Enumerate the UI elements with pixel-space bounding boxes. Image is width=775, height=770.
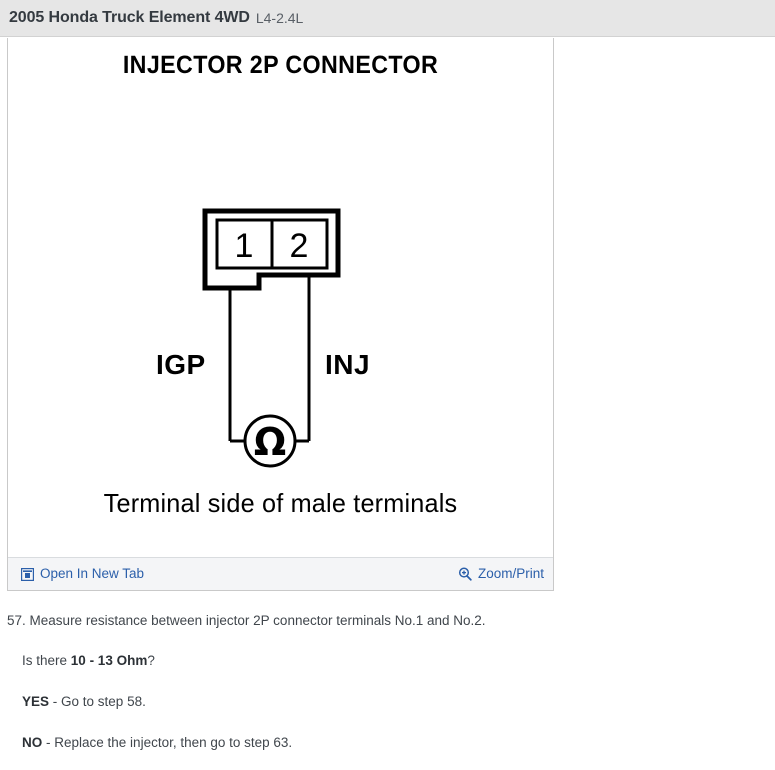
answer-no-text: - Replace the injector, then go to step …	[46, 735, 292, 750]
external-window-icon	[20, 567, 34, 581]
connector-diagram[interactable]: INJECTOR 2P CONNECTOR 1 2 Ω IGP INJ	[8, 38, 553, 556]
question-line: Is there 10 - 13 Ohm?	[22, 653, 155, 668]
open-in-new-tab-button[interactable]: Open In New Tab	[20, 567, 144, 581]
zoom-print-label: Zoom/Print	[478, 567, 544, 581]
page-title: 2005 Honda Truck Element 4WD	[9, 9, 250, 27]
question-suffix: ?	[147, 653, 155, 668]
wire-label-inj: INJ	[325, 349, 370, 380]
engine-subtitle: L4-2.4L	[256, 10, 303, 26]
diagram-caption: Terminal side of male terminals	[16, 488, 545, 519]
step-instruction-line: 57. Measure resistance between injector …	[7, 612, 747, 630]
question-prefix: Is there	[22, 653, 67, 668]
ohm-symbol: Ω	[254, 420, 286, 464]
step-instruction-text: Measure resistance between injector 2P c…	[30, 613, 486, 628]
figure-panel: INJECTOR 2P CONNECTOR 1 2 Ω IGP INJ	[7, 38, 554, 591]
answer-yes-label: YES	[22, 694, 49, 709]
page-header: 2005 Honda Truck Element 4WD L4-2.4L	[0, 0, 775, 37]
answer-no-line: NO - Replace the injector, then go to st…	[22, 735, 292, 750]
answer-yes-line: YES - Go to step 58.	[22, 694, 146, 709]
answer-yes-text: - Go to step 58.	[53, 694, 146, 709]
step-number: 57.	[7, 613, 26, 628]
wire-label-igp: IGP	[156, 349, 206, 380]
open-in-new-tab-label: Open In New Tab	[40, 567, 144, 581]
answer-no-label: NO	[22, 735, 42, 750]
pin-2-number: 2	[290, 227, 309, 265]
magnifier-plus-icon	[458, 567, 472, 581]
figure-toolbar: Open In New Tab Zoom/Print	[8, 557, 553, 590]
connector-schematic-svg: 1 2 Ω IGP INJ	[8, 38, 553, 556]
pin-1-number: 1	[235, 227, 254, 265]
zoom-print-button[interactable]: Zoom/Print	[458, 567, 544, 581]
question-value: 10 - 13 Ohm	[71, 653, 148, 668]
